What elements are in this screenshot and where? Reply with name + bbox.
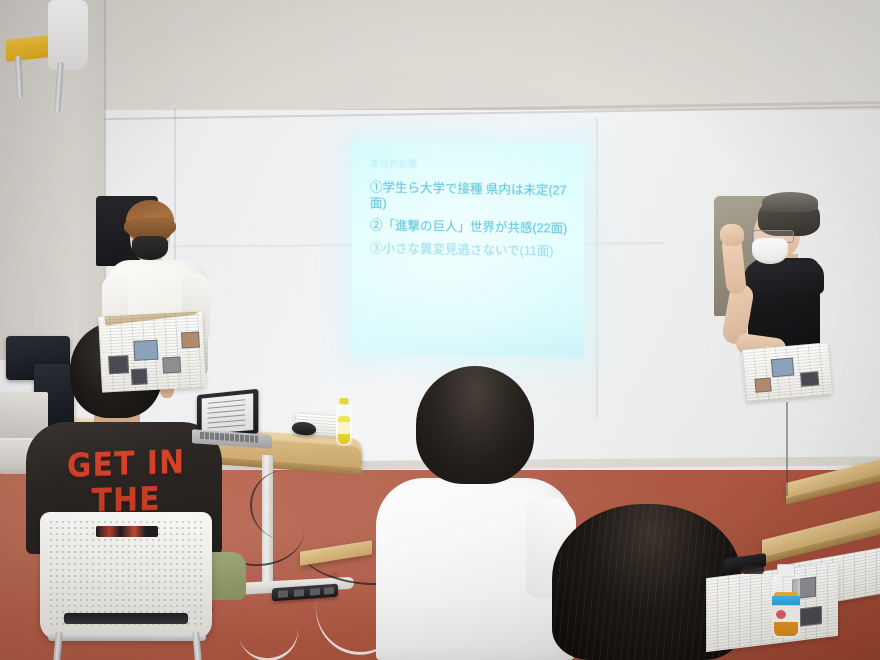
presenter-left-face-mask	[132, 236, 168, 260]
tshirt-line-1: GET IN	[67, 444, 185, 485]
classroom-photo: 本日のお題 ①学生ら大学で接種 県内は未定(27面) ②「進撃の巨人」世界が共感…	[0, 0, 880, 660]
chair-front[interactable]	[40, 512, 212, 640]
slide-title: 本日のお題	[370, 157, 576, 174]
chair-front-logo	[96, 526, 158, 537]
newspaper-held-left	[98, 311, 206, 392]
projected-slide: 本日のお題 ①学生ら大学で接種 県内は未定(27面) ②「進撃の巨人」世界が共感…	[352, 141, 584, 357]
newspaper-photo-4	[181, 332, 200, 349]
bottle-body-orange	[772, 574, 800, 638]
newspaper-right-photo-1	[771, 357, 794, 377]
presenter-right-raised-fist	[720, 224, 744, 246]
newspaper-photo-5	[131, 368, 148, 385]
slide-item-2: ②「進撃の巨人」世界が共感(22面)	[370, 218, 576, 237]
power-socket-2	[294, 589, 304, 597]
drink-bottle-yellow[interactable]	[336, 398, 352, 446]
bottle-label-graphic	[776, 610, 786, 619]
slide-item-1: ①学生ら大学で接種 県内は未定(27面)	[370, 180, 576, 215]
laptop-keyboard[interactable]	[200, 432, 258, 443]
dark-object-small	[742, 566, 764, 574]
laptop-screen	[202, 393, 254, 434]
laptop-on-desk[interactable]	[192, 392, 274, 448]
bottle-label-blue	[772, 596, 800, 622]
presenter-right-hair-top	[762, 192, 818, 212]
slide-item-3: ③小さな異変見逃さないで(11面)	[370, 241, 576, 260]
newspaper-front-photo-2	[800, 606, 822, 627]
slide-content: 本日のお題 ①学生ら大学で接種 県内は未定(27面) ②「進撃の巨人」世界が共感…	[370, 157, 576, 267]
presenter-right-face-mask	[752, 238, 788, 264]
bottle-body-yellow	[336, 404, 352, 446]
presenter-right-leg-seam	[786, 402, 788, 496]
drink-bottle-orange[interactable]	[772, 564, 800, 638]
chair-front-handle-slot	[64, 613, 188, 624]
newspaper-right-photo-2	[754, 377, 771, 392]
wall-panel-seam-c	[596, 118, 598, 418]
wall-upper	[0, 0, 880, 118]
seated-student-center	[376, 366, 576, 660]
standing-presenter-right	[714, 196, 870, 496]
newspaper-right-photo-3	[800, 371, 819, 387]
laptop-base[interactable]	[192, 429, 272, 449]
newspaper-photo-3	[162, 357, 181, 374]
bottle-label-yellow	[336, 422, 352, 434]
power-socket-4	[324, 587, 334, 595]
power-socket-1	[278, 590, 288, 598]
presenter-right-shoulder	[744, 260, 824, 294]
laptop-screen-text	[207, 399, 245, 428]
power-socket-3	[310, 588, 320, 596]
newspaper-photo-1	[108, 355, 129, 374]
chair-middle-back	[48, 0, 88, 70]
newspaper-held-right	[742, 342, 832, 401]
presenter-left-hair-fringe	[124, 218, 176, 238]
student-center-hair	[416, 366, 534, 484]
chair-front-rail	[48, 634, 206, 641]
newspaper-photo-2	[133, 340, 158, 361]
